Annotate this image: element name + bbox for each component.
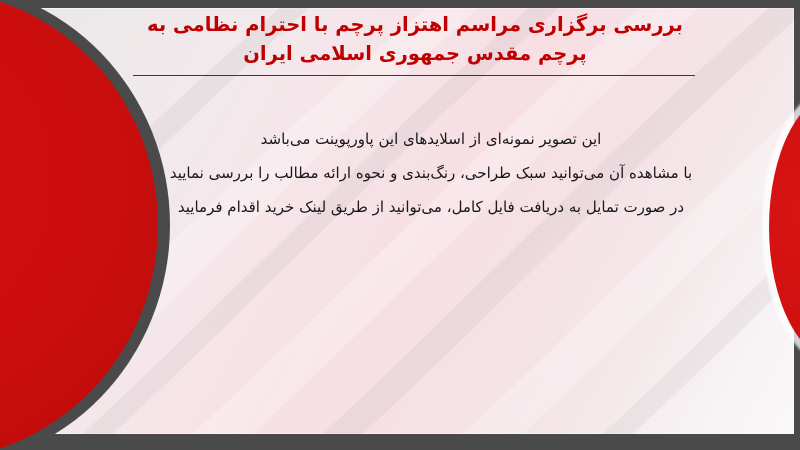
slide-body-line-2: با مشاهده آن می‌توانید سبک طراحی، رنگ‌بن… <box>120 156 742 190</box>
title-underline <box>133 75 695 76</box>
slide-title-line-1: بررسی برگزاری مراسم اهتزاز پرچم با احترا… <box>120 10 710 39</box>
presentation-slide: بررسی برگزاری مراسم اهتزاز پرچم با احترا… <box>0 0 800 450</box>
slide-title: بررسی برگزاری مراسم اهتزاز پرچم با احترا… <box>120 10 710 68</box>
slide-body-line-3: در صورت تمایل به دریافت فایل کامل، می‌تو… <box>120 190 742 224</box>
slide-body-line-1: این تصویر نمونه‌ای از اسلایدهای این پاور… <box>120 122 742 156</box>
slide-body: این تصویر نمونه‌ای از اسلایدهای این پاور… <box>120 122 742 224</box>
slide-title-line-2: پرچم مقدس جمهوری اسلامی ایران <box>120 39 710 68</box>
